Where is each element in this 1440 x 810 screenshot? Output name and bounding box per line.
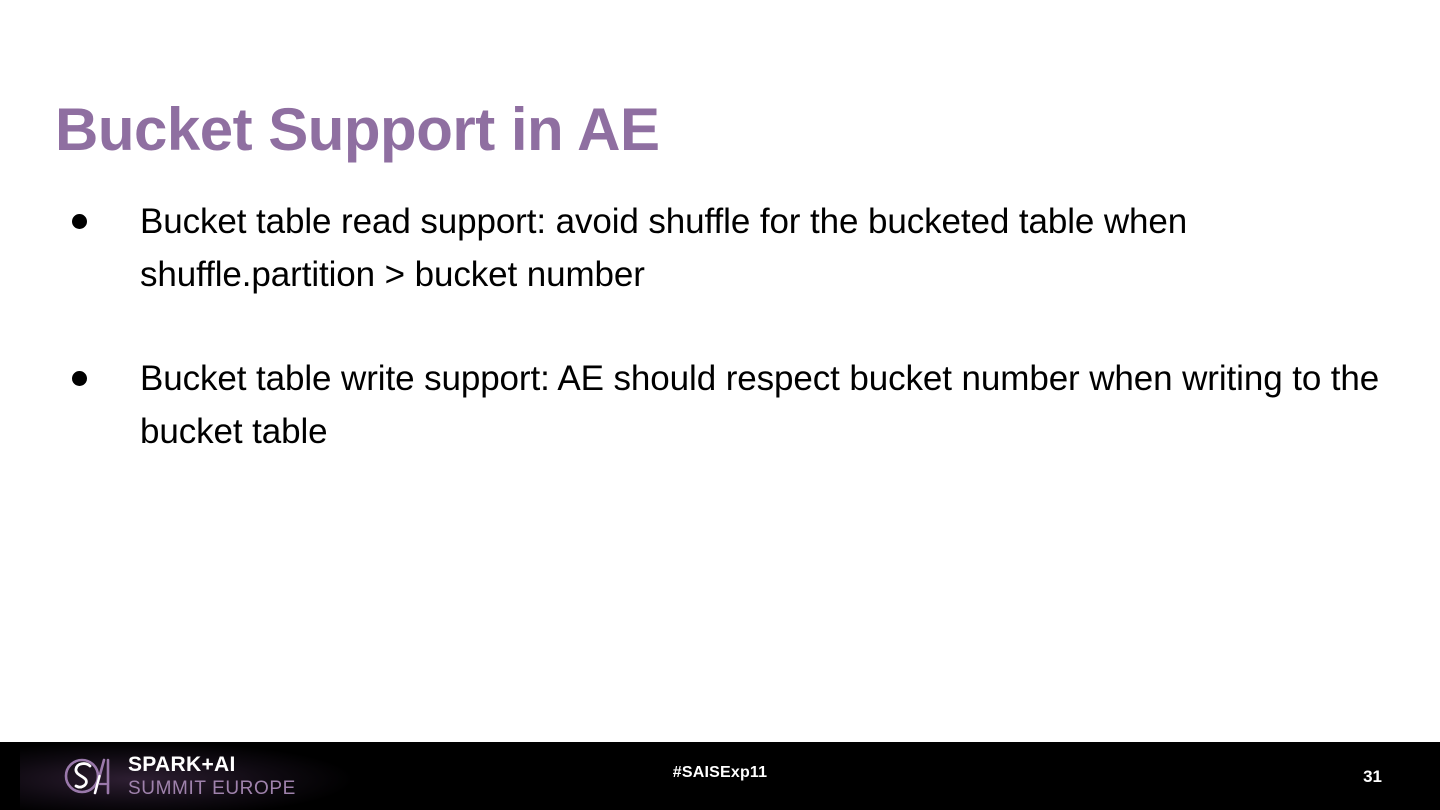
list-item-text: Bucket table write support: AE should re… [140, 353, 1380, 458]
event-hashtag: #SAISExp11 [0, 764, 1440, 782]
list-item-text: Bucket table read support: avoid shuffle… [140, 196, 1380, 301]
bullet-dot-icon [72, 214, 87, 229]
page-title: Bucket Support in AE [55, 98, 659, 163]
slide-footer: SPARK+AI SUMMIT EUROPE #SAISExp11 31 [0, 742, 1440, 810]
slide: Bucket Support in AE Bucket table read s… [0, 0, 1440, 810]
bullet-list: Bucket table read support: avoid shuffle… [60, 196, 1380, 458]
list-item: Bucket table read support: avoid shuffle… [60, 196, 1380, 301]
page-number: 31 [1363, 767, 1382, 787]
list-item: Bucket table write support: AE should re… [60, 353, 1380, 458]
bullet-dot-icon [72, 371, 87, 386]
